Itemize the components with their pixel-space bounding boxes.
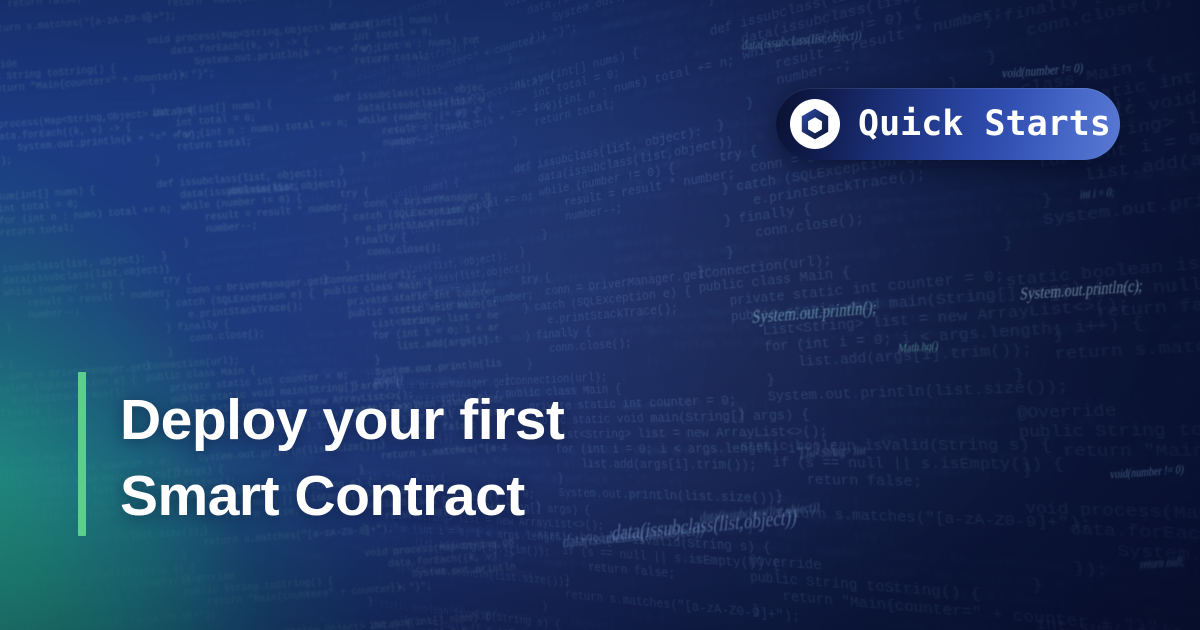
page-title-line-1: Deploy your first — [120, 382, 740, 458]
chainlink-hexagon-logo-icon — [790, 99, 840, 149]
page-title: Deploy your first Smart Contract — [120, 382, 740, 534]
promo-banner: if (s == null || s.isEmpty()) { return f… — [0, 0, 1200, 630]
quickstarts-badge[interactable]: Quick Starts — [776, 88, 1120, 160]
quickstarts-badge-label: Quick Starts — [858, 107, 1111, 142]
headline-accent-bar — [78, 372, 86, 536]
page-title-line-2: Smart Contract — [120, 458, 740, 534]
